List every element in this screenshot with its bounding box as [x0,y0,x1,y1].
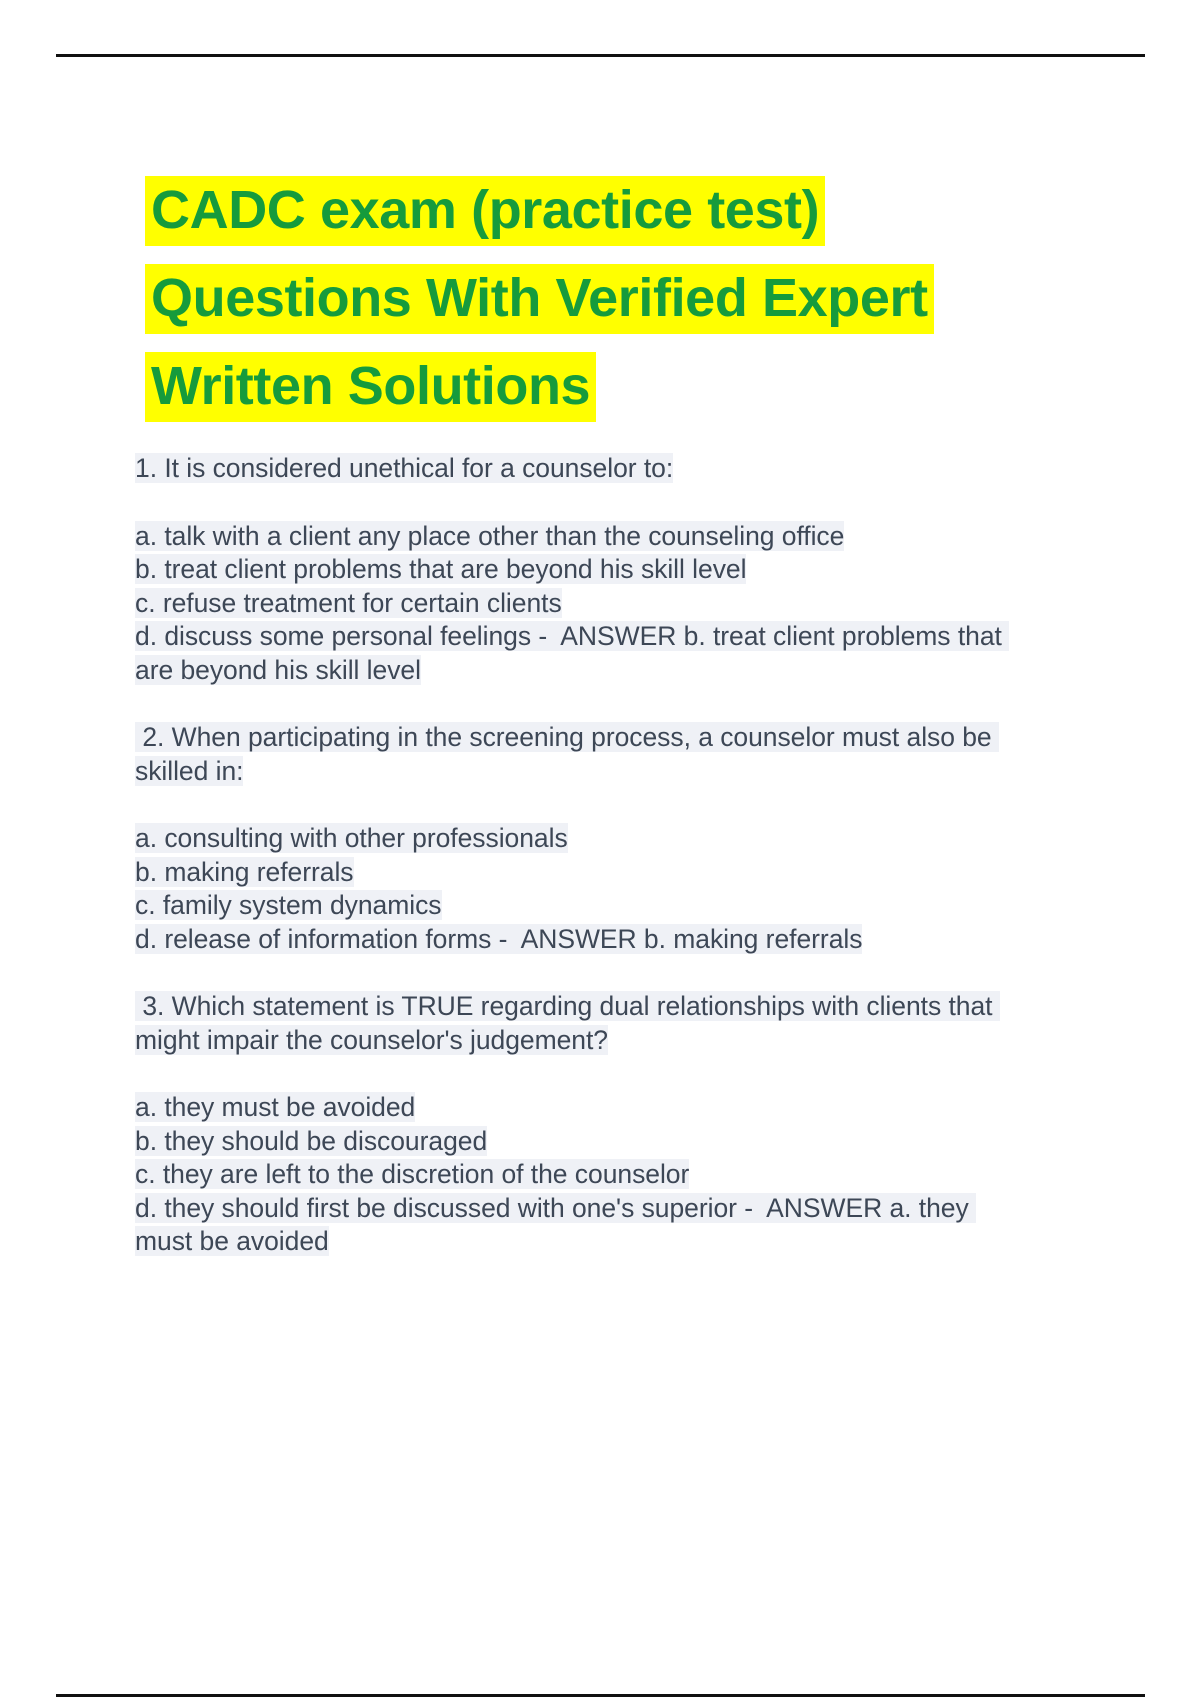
option-item-with-answer: d. discuss some personal feelings - ANSW… [135,620,1025,687]
option-text: b. making referrals [135,857,354,887]
title-line-3-text: Written Solutions [145,352,596,422]
option-item: b. treat client problems that are beyond… [135,553,1025,587]
option-list: a. talk with a client any place other th… [135,520,1025,688]
option-text: b. treat client problems that are beyond… [135,554,746,584]
option-item: a. consulting with other professionals [135,822,1025,856]
option-text: c. they are left to the discretion of th… [135,1159,689,1189]
header-rule [56,54,1145,57]
question-stem: 3. Which statement is TRUE regarding dua… [135,990,1025,1057]
question-stem-text: 1. It is considered unethical for a coun… [135,453,673,483]
option-text: a. they must be avoided [135,1092,415,1122]
question-block: 2. When participating in the screening p… [135,721,1025,956]
option-list: a. they must be avoided b. they should b… [135,1091,1025,1259]
option-item: a. talk with a client any place other th… [135,520,1025,554]
option-item: a. they must be avoided [135,1091,1025,1125]
title-line-1-text: CADC exam (practice test) [145,176,825,246]
title-line-1: CADC exam (practice test) [145,175,1065,259]
footer-rule [56,1694,1145,1697]
option-text: c. family system dynamics [135,890,442,920]
option-item-with-answer: d. release of information forms - ANSWER… [135,923,1025,957]
option-text: d. release of information forms - ANSWER… [135,924,862,954]
document-title: CADC exam (practice test) Questions With… [145,175,1065,439]
option-item: c. refuse treatment for certain clients [135,587,1025,621]
option-text: d. discuss some personal feelings - ANSW… [135,621,1009,685]
question-stem: 1. It is considered unethical for a coun… [135,452,1025,486]
option-text: b. they should be discouraged [135,1126,487,1156]
option-item-with-answer: d. they should first be discussed with o… [135,1192,1025,1259]
option-item: c. they are left to the discretion of th… [135,1158,1025,1192]
question-stem-text: 3. Which statement is TRUE regarding dua… [135,991,1000,1055]
option-text: d. they should first be discussed with o… [135,1193,976,1257]
option-item: c. family system dynamics [135,889,1025,923]
option-text: c. refuse treatment for certain clients [135,588,562,618]
question-stem: 2. When participating in the screening p… [135,721,1025,788]
question-block: 1. It is considered unethical for a coun… [135,452,1025,687]
option-list: a. consulting with other professionals b… [135,822,1025,956]
title-line-2-text: Questions With Verified Expert [145,264,934,334]
option-item: b. they should be discouraged [135,1125,1025,1159]
question-block: 3. Which statement is TRUE regarding dua… [135,990,1025,1259]
title-line-2: Questions With Verified Expert [145,263,1065,347]
option-item: b. making referrals [135,856,1025,890]
option-text: a. consulting with other professionals [135,823,568,853]
question-stem-text: 2. When participating in the screening p… [135,722,999,786]
option-text: a. talk with a client any place other th… [135,521,844,551]
question-list: 1. It is considered unethical for a coun… [135,452,1025,1259]
document-page: CADC exam (practice test) Questions With… [0,0,1200,1700]
title-line-3: Written Solutions [145,351,1065,435]
